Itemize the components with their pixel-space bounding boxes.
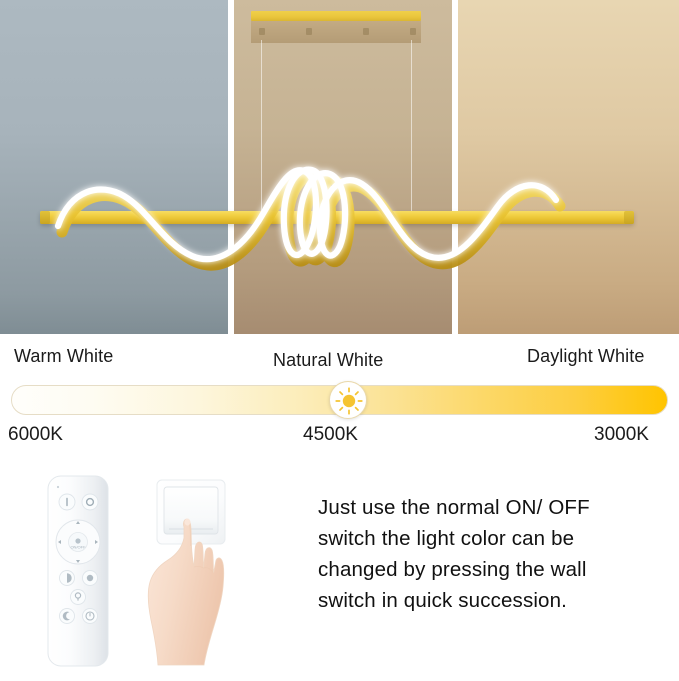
fixture-led-ribbon	[0, 0, 679, 334]
instruction-line: switch the light color can be	[318, 523, 666, 554]
fingertip	[185, 518, 191, 525]
cct-warm-glyph	[87, 575, 93, 581]
slider-handle[interactable]	[329, 381, 367, 419]
led-remote-control[interactable]: ON/OFF	[47, 475, 109, 667]
cct-label-natural-white: Natural White	[273, 350, 383, 371]
wall-switch-with-hand[interactable]	[138, 472, 313, 667]
kelvin-value-daylight: 3000K	[594, 424, 649, 446]
power-off-button[interactable]	[82, 494, 98, 510]
remote-body	[48, 476, 108, 666]
kelvin-value-warm: 6000K	[8, 424, 63, 446]
hero-product-photo	[0, 0, 679, 334]
kelvin-value-natural: 4500K	[303, 424, 358, 446]
instruction-text-block: Just use the normal ON/ OFF switch the l…	[318, 492, 666, 616]
cct-label-daylight-white: Daylight White	[527, 346, 644, 367]
product-infographic-page: Warm White Natural White Daylight White	[0, 0, 679, 681]
night-mode-button[interactable]	[60, 609, 75, 624]
mode-center-glyph	[75, 538, 80, 543]
instruction-line: Just use the normal ON/ OFF	[318, 492, 666, 523]
bulb-button[interactable]	[71, 590, 86, 605]
instruction-line: switch in quick succession.	[318, 585, 666, 616]
kelvin-value-row: 6000K 4500K 3000K	[0, 424, 679, 452]
cct-label-row: Warm White Natural White Daylight White	[0, 346, 679, 376]
cct-label-warm-white: Warm White	[14, 346, 113, 367]
remote-ir-led	[57, 486, 59, 488]
sun-icon	[330, 382, 368, 420]
remote-dpad: ON/OFF	[56, 520, 100, 564]
usage-instruction-section: ON/OFF	[0, 462, 679, 681]
mode-center-label: ON/OFF	[70, 545, 86, 550]
color-temperature-slider[interactable]	[11, 385, 668, 415]
instruction-line: changed by pressing the wall	[318, 554, 666, 585]
